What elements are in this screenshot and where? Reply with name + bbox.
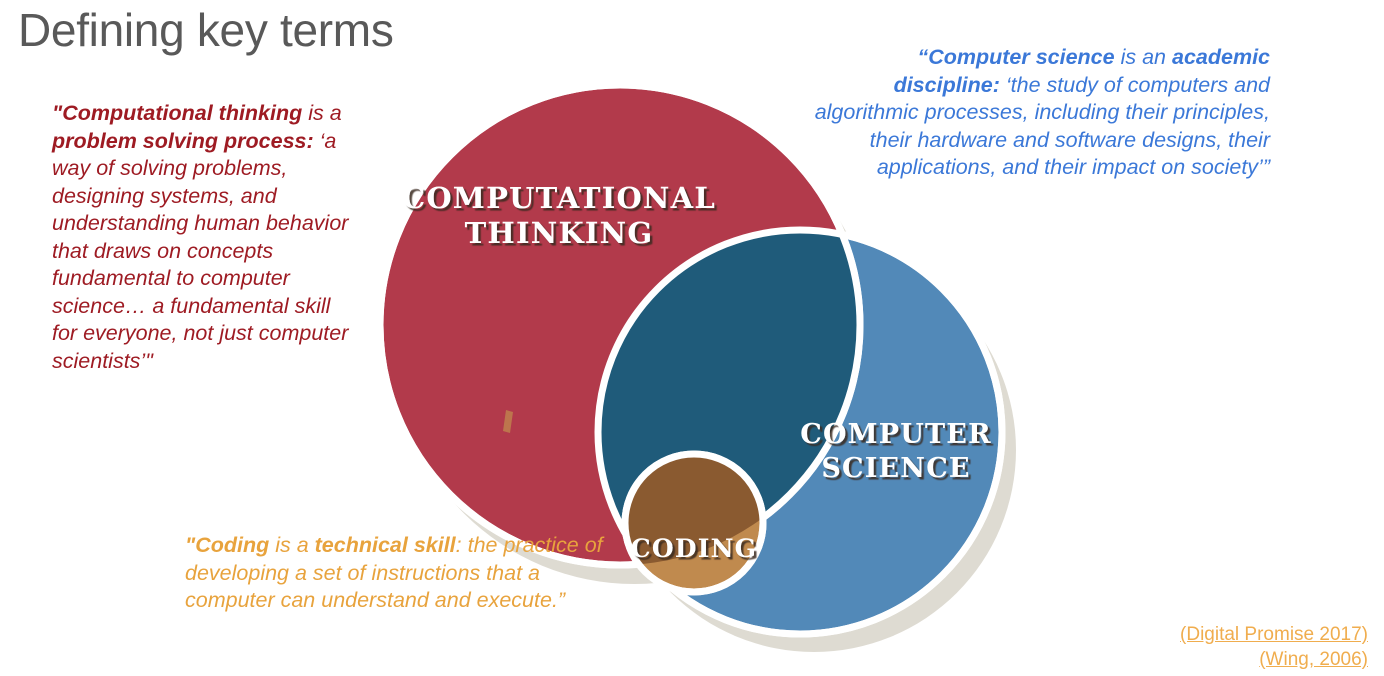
quote-coding-bold-term: "Coding	[185, 533, 269, 557]
quote-ct-mid: is a	[302, 101, 341, 125]
quote-computational-thinking: "Computational thinking is a problem sol…	[52, 100, 352, 375]
label-computer-science-line2: SCIENCE	[821, 453, 970, 484]
label-computational-thinking-line1: COMPUTATIONAL	[402, 181, 716, 215]
quote-ct-bold-term: "Computational thinking	[52, 101, 302, 125]
citation-link-wing[interactable]: (Wing, 2006)	[1180, 647, 1368, 672]
label-coding: CODING	[631, 534, 757, 563]
quote-coding-bold-def: technical skill	[315, 533, 456, 557]
citation-link-digital-promise[interactable]: (Digital Promise 2017)	[1180, 622, 1368, 647]
label-computer-science-line1: COMPUTER	[800, 419, 991, 450]
citations: (Digital Promise 2017) (Wing, 2006)	[1180, 622, 1368, 672]
slide-canvas: Defining key terms	[0, 0, 1384, 676]
quote-cs-body: ‘the study of computers and algorithmic …	[815, 73, 1270, 180]
quote-coding-mid: is a	[269, 533, 314, 557]
label-computational-thinking-line2: THINKING	[465, 216, 654, 250]
quote-coding: "Coding is a technical skill: the practi…	[185, 532, 605, 615]
quote-cs-bold-term: “Computer science	[917, 45, 1114, 69]
quote-computer-science: “Computer science is an academic discipl…	[808, 44, 1270, 182]
quote-ct-body: ‘a way of solving problems, designing sy…	[52, 129, 348, 373]
quote-cs-mid: is an	[1115, 45, 1172, 69]
quote-ct-bold-def: problem solving process:	[52, 129, 314, 153]
